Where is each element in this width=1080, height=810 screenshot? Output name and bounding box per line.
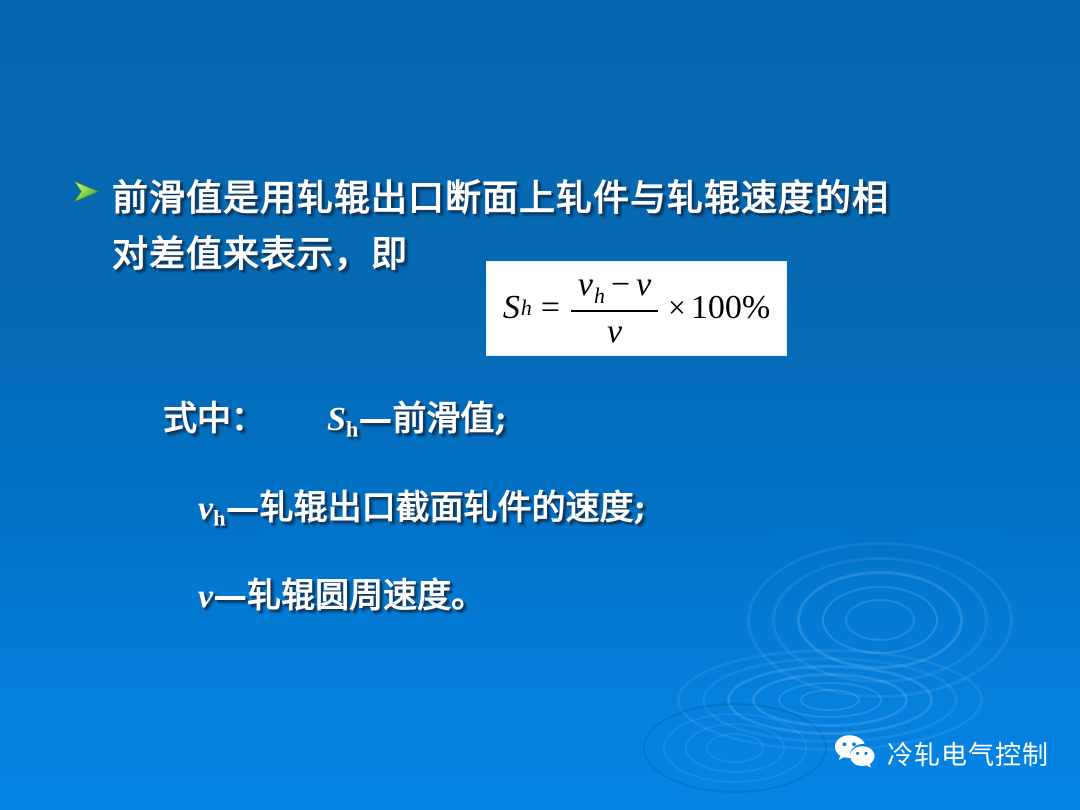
formula-lhs-subscript: h xyxy=(520,296,532,321)
definition-subscript-vh: h xyxy=(213,505,225,530)
formula-numerator-subscript: h xyxy=(593,285,605,308)
definition-item-sh: 式中：Sh—前滑值; xyxy=(163,398,983,451)
definition-text-vh: 轧辊出口截面轧件的速度; xyxy=(260,488,647,528)
definition-dash-v: — xyxy=(213,576,247,616)
definition-symbol-v: v xyxy=(198,578,213,615)
formula-numerator: vh−v xyxy=(571,267,658,309)
definition-symbol-vh: v xyxy=(198,490,213,527)
formula-box: Sh = vh−v v × 100% xyxy=(487,262,786,355)
definition-item-vh: vh—轧辊出口截面轧件的速度; xyxy=(198,487,983,540)
formula-lhs-symbol: S xyxy=(503,289,520,327)
formula-equals-sign: = xyxy=(532,289,569,327)
bullet-text-line-1: 前滑值是用轧辊出口断面上轧件与轧辊速度的相 xyxy=(112,170,1022,226)
formula-times-sign: × xyxy=(660,290,691,326)
slide-canvas: 前滑值是用轧辊出口断面上轧件与轧辊速度的相 对差值来表示，即 Sh = vh−v… xyxy=(0,0,1080,810)
green-arrowhead-bullet-icon xyxy=(72,170,112,209)
definition-item-v: v—轧辊圆周速度。 xyxy=(198,575,983,628)
formula-fraction: vh−v v xyxy=(569,267,660,349)
definition-symbol-sh: S xyxy=(327,401,346,438)
bullet-text-line-1-wrap: 前滑值是用轧辊出口断面上轧件与轧辊速度的相 xyxy=(112,170,1022,226)
definition-subscript-sh: h xyxy=(346,417,358,442)
definition-dash-sh: — xyxy=(358,399,392,439)
forward-slip-formula: Sh = vh−v v × 100% xyxy=(503,267,770,349)
wechat-logo-icon xyxy=(833,733,877,774)
formula-percent-value: 100% xyxy=(691,289,770,327)
definition-label: 式中： xyxy=(163,399,265,439)
formula-numerator-var2: v xyxy=(636,266,651,303)
formula-denominator: v xyxy=(600,312,629,350)
wechat-watermark: 冷轧电气控制 xyxy=(833,733,1049,774)
definition-list: 式中：Sh—前滑值; vh—轧辊出口截面轧件的速度; v—轧辊圆周速度。 xyxy=(163,398,983,628)
definition-text-sh: 前滑值; xyxy=(392,399,507,439)
formula-minus-sign: − xyxy=(605,266,636,303)
definition-text-v: 轧辊圆周速度。 xyxy=(247,576,485,616)
definition-dash-vh: — xyxy=(226,488,260,528)
watermark-text: 冷轧电气控制 xyxy=(887,735,1049,772)
bullet-indent-spacer xyxy=(72,226,112,235)
bullet-first-line-row: 前滑值是用轧辊出口断面上轧件与轧辊速度的相 xyxy=(72,170,1022,226)
formula-numerator-var: v xyxy=(578,266,593,303)
